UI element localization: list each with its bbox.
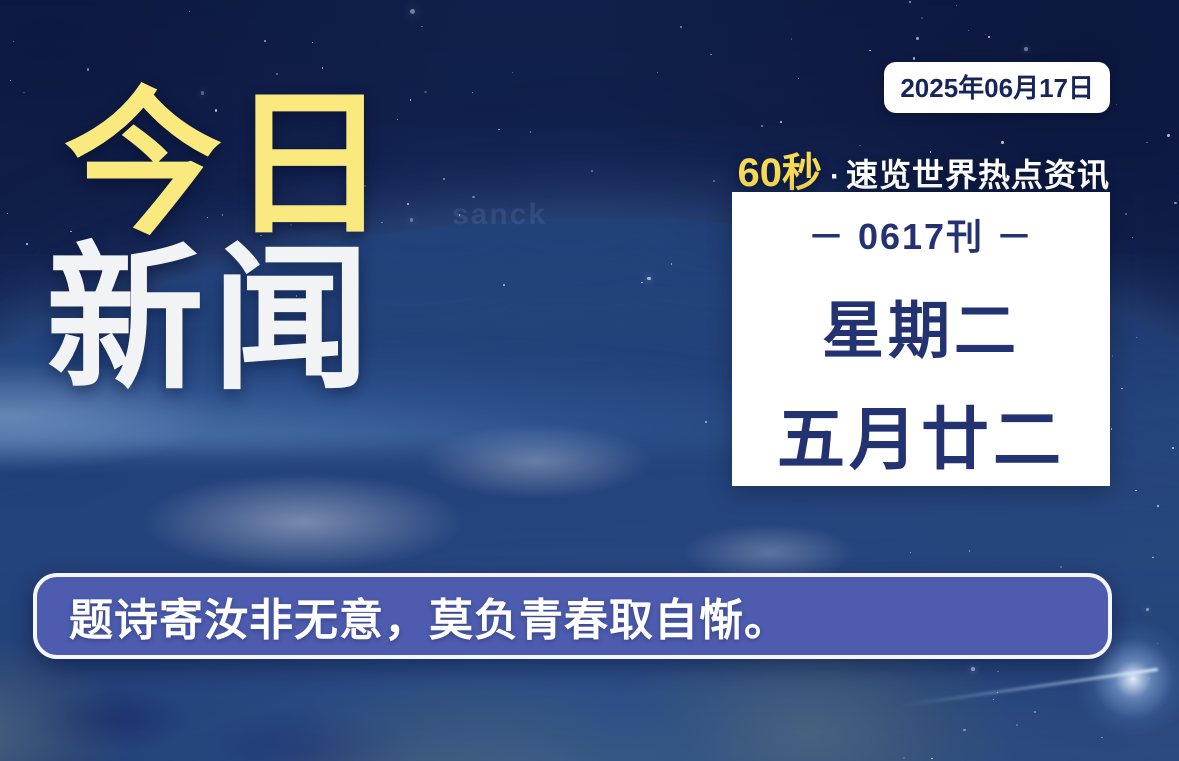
- tagline-separator-dot: ·: [830, 160, 840, 194]
- tagline-label: 速览世界热点资讯: [846, 150, 1110, 196]
- tagline-seconds: 60秒: [737, 140, 822, 198]
- quote-banner: 题诗寄汝非无意，莫负青春取自惭。: [33, 573, 1112, 659]
- lunar-date-label: 五月廿二: [777, 384, 1065, 483]
- tagline: 60秒 · 速览世界热点资讯: [737, 140, 1110, 198]
- page-title-line-2: 新闻: [46, 247, 396, 394]
- poster-title: 今日 新闻: [46, 92, 396, 394]
- date-info-card: － 0617刊 － 星期二 五月廿二: [732, 192, 1110, 486]
- date-badge: 2025年06月17日: [884, 62, 1110, 113]
- page-title-line-1: 今日: [46, 92, 396, 239]
- news-poster: sanck 今日 新闻 2025年06月17日 60秒 · 速览世界热点资讯 －…: [0, 0, 1179, 761]
- issue-number: － 0617刊 －: [808, 208, 1034, 260]
- weekday-label: 星期二: [822, 280, 1020, 370]
- quote-text: 题诗寄汝非无意，莫负青春取自惭。: [37, 584, 789, 648]
